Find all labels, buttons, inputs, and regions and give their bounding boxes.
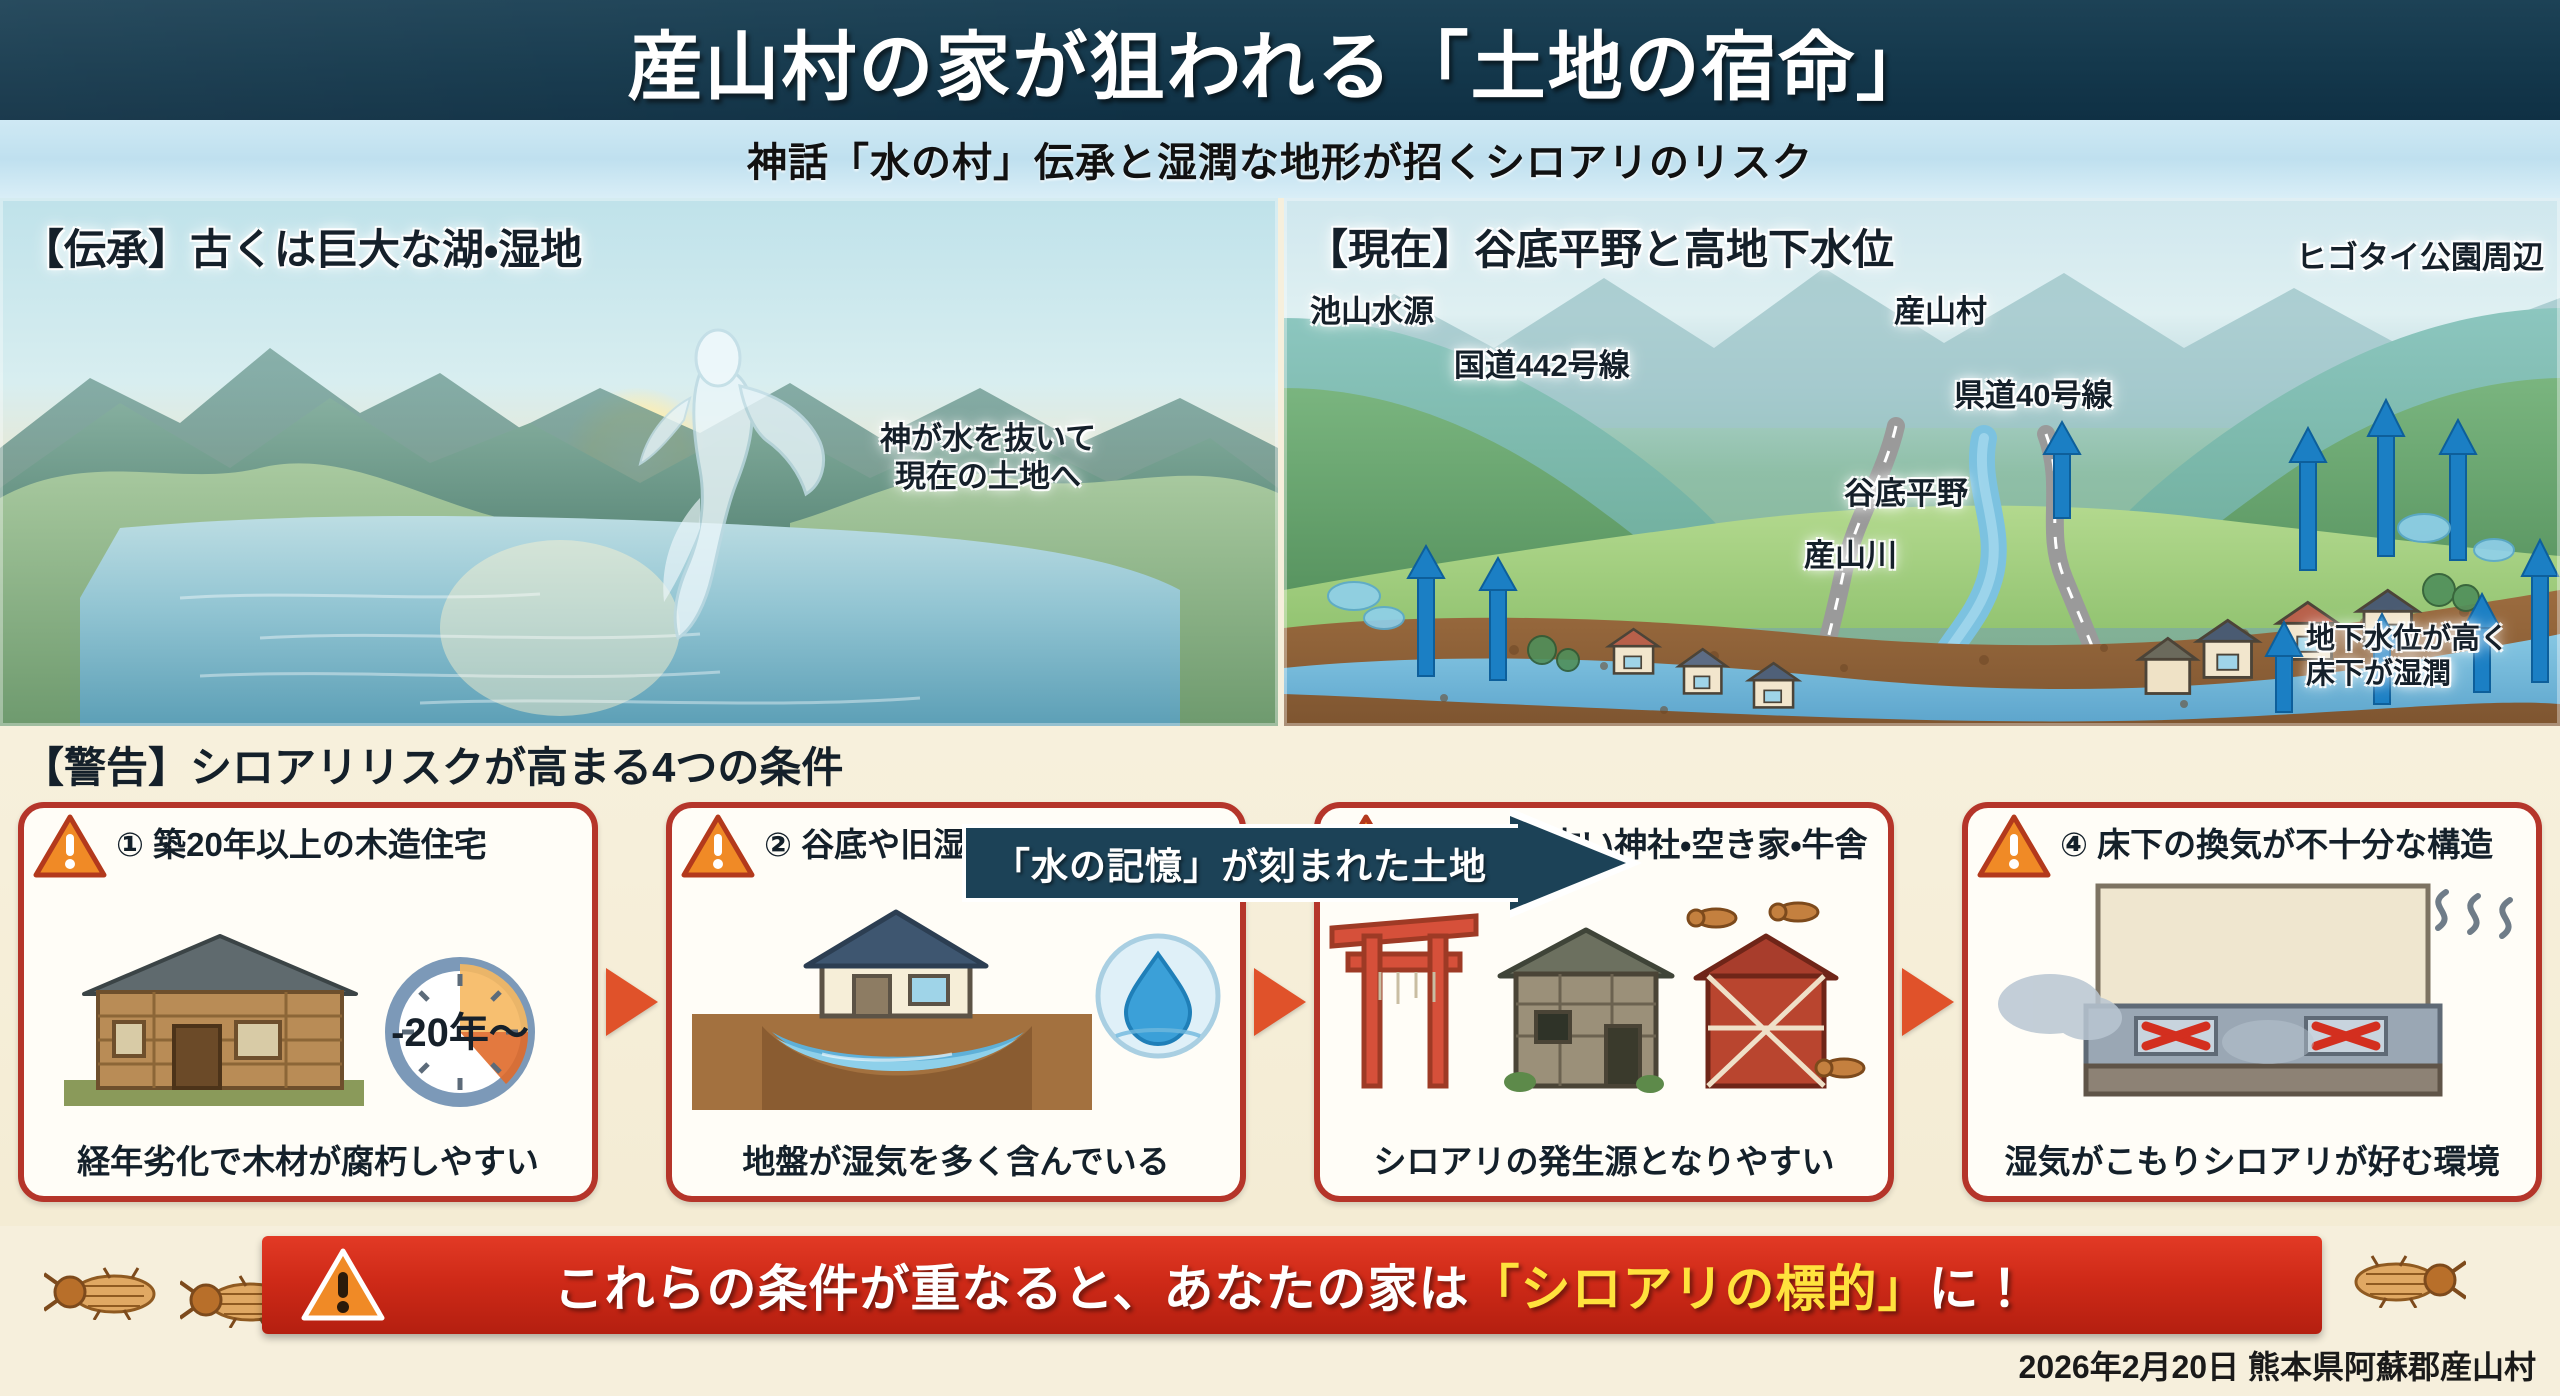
blocked-underfloor-vent-icon [1968, 876, 2542, 1126]
flow-arrow-3 [1894, 802, 1962, 1202]
card-2-caption: 地盤が湿気を多く含んでいる [742, 1135, 1169, 1183]
card-1-badge-text: -20年〜 [391, 1011, 529, 1055]
card-1-caption-bar: 経年劣化で木材が腐朽しやすい [24, 1130, 592, 1188]
illustration-row: 【伝承】古くは巨大な湖・湿地 神が水を抜いて 現在の土地へ [0, 198, 2560, 726]
map-label-route-442: 国道442号線 [1454, 340, 1630, 385]
termite-icon [2346, 1252, 2466, 1308]
house-cluster-right [2139, 590, 2418, 693]
card-1-illustration: -20年〜 [24, 876, 592, 1126]
card-4-title: ④ 床下の換気が不十分な構造 [2060, 818, 2493, 866]
card-3-caption-bar: シロアリの発生源となりやすい [1320, 1130, 1888, 1188]
valley-scene-illustration [1284, 198, 2560, 726]
subtitle-bar: 神話「水の村」伝承と湿潤な地形が招くシロアリのリスク [0, 120, 2560, 198]
house-cluster-left [1609, 629, 1798, 707]
map-label-ubuyama-river: 産山川 [1804, 530, 1897, 575]
warning-triangle-icon [300, 1246, 386, 1324]
groundwater-arrows-bottom [2266, 540, 2558, 712]
transition-arrow: 「水の記憶」が刻まれた土地 [962, 810, 1642, 916]
condition-card-4[interactable]: ④ 床下の換気が不十分な構造 [1962, 802, 2542, 1202]
card-4-caption: 湿気がこもりシロアリが好む環境 [2005, 1135, 2500, 1183]
steam-icon [2438, 892, 2510, 936]
warning-heading: 【警告】シロアリリスクが高まる4つの条件 [22, 734, 843, 795]
flow-arrow-shape [1902, 968, 1954, 1036]
title-bar: 産山村の家が狙われる「土地の宿命」 [0, 0, 2560, 120]
termite-icon [44, 1264, 164, 1320]
panel-legend-lake: 【伝承】古くは巨大な湖・湿地 神が水を抜いて 現在の土地へ [0, 198, 1278, 726]
warning-triangle-icon [1976, 812, 2052, 880]
groundwater-arrows-right [2290, 400, 2476, 570]
card-4-illustration [1968, 876, 2536, 1126]
panel-right-title: 【現在】谷底平野と高地下水位 [1306, 216, 1894, 277]
card-2-caption-bar: 地盤が湿気を多く含んでいる [672, 1130, 1240, 1188]
title-gradient-overlay [0, 0, 1178, 120]
card-1-header: ① 築20年以上の木造住宅 [24, 808, 592, 876]
flow-arrow-shape [1254, 968, 1306, 1036]
arrow-head-fill [1510, 816, 1626, 910]
banner-text-after: に！ [1929, 1261, 2031, 1317]
warning-triangle-icon [32, 812, 108, 880]
water-deity-figure [640, 330, 824, 638]
banner-text: これらの条件が重なると、あなたの家は「シロアリの標的」に！ [554, 1249, 2031, 1321]
card-3-caption: シロアリの発生源となりやすい [1373, 1135, 1834, 1183]
groundwater-arrows-left [1408, 422, 2080, 680]
bottom-alert-banner: これらの条件が重なると、あなたの家は「シロアリの標的」に！ [262, 1236, 2322, 1334]
warning-section: 【警告】シロアリリスクが高まる4つの条件 ① 築20年以上の木造住宅 [0, 726, 2560, 1226]
banner-text-before: これらの条件が重なると、あなたの家は [554, 1261, 1470, 1317]
map-label-ubuyama-village: 産山村 [1894, 286, 1987, 331]
lake-scene-illustration [0, 198, 1278, 726]
footer-credit: 2026年2月20日 熊本県阿蘇郡産山村 [2019, 1342, 2536, 1388]
old-wooden-house-icon: -20年〜 [24, 876, 598, 1126]
transition-arrow-label: 「水の記憶」が刻まれた土地 [962, 824, 1518, 902]
card-4-caption-bar: 湿気がこもりシロアリが好む環境 [1968, 1130, 2536, 1188]
abandoned-house-icon [1500, 930, 1672, 1093]
sky-background [0, 198, 1278, 726]
page-subtitle: 神話「水の村」伝承と湿潤な地形が招くシロアリのリスク [747, 130, 1813, 188]
flow-arrow-shape [606, 968, 658, 1036]
panel-current-valley: 【現在】谷底平野と高地下水位 池山水源 国道442号線 産山村 県道40号線 ヒ… [1284, 198, 2560, 726]
warning-triangle-icon [680, 812, 756, 880]
banner-highlight: 「シロアリの標的」 [1470, 1261, 1929, 1317]
barn-icon [1696, 936, 1836, 1086]
infographic-page: 産山村の家が狙われる「土地の宿命」 神話「水の村」伝承と湿潤な地形が招くシロアリ… [0, 0, 2560, 1396]
map-label-higotai-park: ヒゴタイ公園周辺 [2296, 232, 2544, 277]
valley-sky-background [1284, 198, 2560, 726]
map-label-valley-floor-plain: 谷底平野 [1844, 468, 1968, 513]
condition-card-1[interactable]: ① 築20年以上の木造住宅 [18, 802, 598, 1202]
sun-icon [562, 388, 712, 538]
torii-icon [1332, 916, 1476, 1086]
map-label-ikeyama-suigen: 池山水源 [1310, 286, 1434, 331]
card-4-header: ④ 床下の換気が不十分な構造 [1968, 808, 2536, 876]
panel-left-note: 神が水を抜いて 現在の土地へ [880, 420, 1096, 496]
flow-arrow-1 [598, 802, 666, 1202]
groundwater-note: 地下水位が高く 床下が湿潤 [2306, 622, 2509, 692]
map-label-route-40: 県道40号線 [1954, 370, 2112, 415]
card-1-caption: 経年劣化で木材が腐朽しやすい [77, 1135, 539, 1183]
panel-left-title: 【伝承】古くは巨大な湖・湿地 [22, 216, 582, 277]
card-1-title: ① 築20年以上の木造住宅 [116, 818, 487, 866]
